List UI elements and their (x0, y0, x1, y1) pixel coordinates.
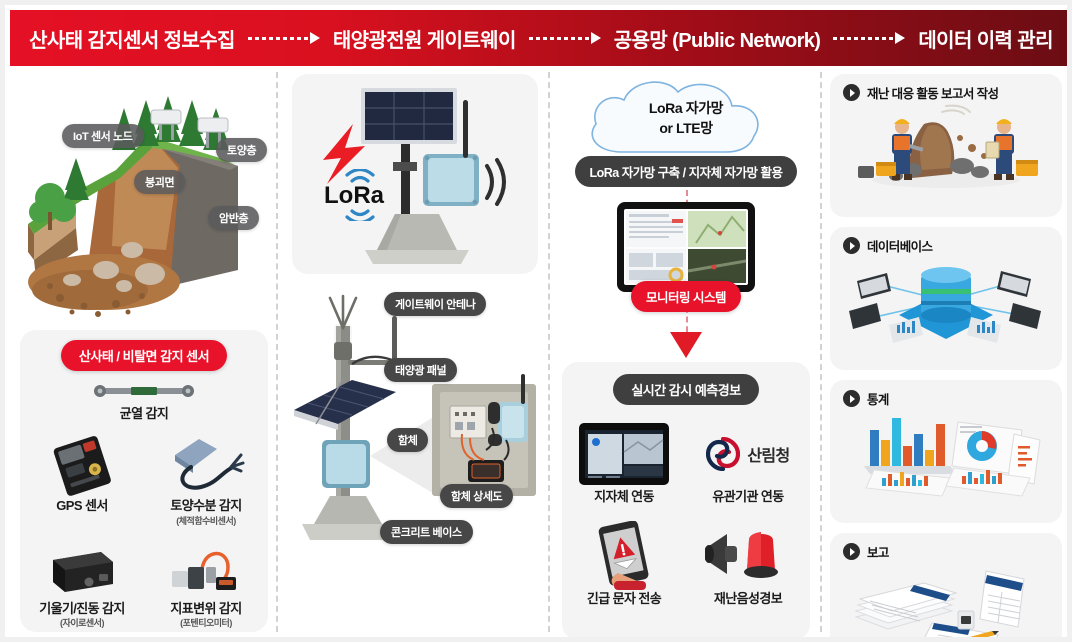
header-step-3: 공용망 (Public Network) (614, 24, 821, 53)
cloud-icon: LoRa 자가망 or LTE망 (562, 74, 810, 160)
alert-label-local-gov: 지자체 연동 (562, 489, 686, 505)
column-data-history: 재난 대응 활동 보고서 작성 (822, 66, 1072, 642)
sensor-panel-badge: 산사태 / 비탈면 감지 센서 (61, 340, 227, 371)
card-title: 재난 대응 활동 보고서 작성 (867, 83, 998, 102)
down-arrow-icon (562, 330, 810, 360)
landslide-slope-illustration: IoT 센서 노드 토양층 붕괴면 암반층 (20, 74, 268, 324)
label-concrete-base: 콘크리트 베이스 (380, 520, 473, 544)
soil-moisture-sensor-icon (144, 432, 268, 498)
dotted-arrow-right-icon (529, 32, 601, 44)
lora-panel: LoRa (292, 74, 538, 274)
card-title: 보고 (867, 542, 889, 561)
alert-panel: 실시간 감시 예측경보 (562, 362, 810, 640)
card-title: 통계 (867, 389, 889, 408)
tablet-dashboard-icon (562, 201, 810, 293)
header-step-2: 태양광전원 게이트웨이 (333, 24, 516, 53)
control-tablet-icon (562, 419, 686, 489)
sensor-label-gps: GPS 센서 (20, 498, 144, 514)
dotted-arrow-right-icon (833, 32, 905, 44)
chevron-right-icon (843, 84, 860, 101)
statistics-charts-icon (830, 408, 1062, 500)
alert-label-agency: 유관기관 연동 (686, 489, 810, 505)
cloud-line-1: LoRa 자가망 (562, 98, 810, 118)
network-badge: LoRa 자가망 구축 / 지자체 자가망 활용 (575, 156, 796, 187)
alert-label-voice: 재난음성경보 (686, 591, 810, 607)
sensor-label-soil-moisture: 토양수분 감지 (체적함수비센서) (144, 498, 268, 527)
sensor-label-displacement: 지표변위 감지 (포텐티오미터) (144, 601, 268, 630)
sensor-label-gyro: 기울기/진동 감지 (자이로센서) (20, 601, 144, 630)
report-documents-icon (830, 561, 1062, 642)
label-soil-layer: 토양층 (216, 138, 267, 162)
card-title: 데이터베이스 (867, 236, 932, 255)
header-step-1: 산사태 감지센서 정보수집 (29, 24, 235, 53)
korea-forest-service-logo: 산림청 (686, 419, 810, 489)
gyro-sensor-icon (20, 539, 144, 601)
card-database[interactable]: 데이터베이스 (830, 227, 1062, 370)
chevron-right-icon (843, 390, 860, 407)
column-solar-gateway: LoRa (278, 66, 550, 642)
label-collapse-face: 붕괴면 (134, 170, 185, 194)
disaster-response-workers-icon (830, 102, 1062, 194)
siren-speaker-icon (686, 521, 810, 591)
infographic-page: 산사태 감지센서 정보수집 태양광전원 게이트웨이 공용망 (Public Ne… (0, 0, 1072, 642)
label-bedrock-layer: 암반층 (208, 206, 259, 230)
alert-panel-badge: 실시간 감시 예측경보 (613, 374, 758, 405)
alert-label-sms: 긴급 문자 전송 (562, 591, 686, 607)
process-header: 산사태 감지센서 정보수집 태양광전원 게이트웨이 공용망 (Public Ne… (10, 10, 1072, 66)
cloud-line-2: or LTE망 (562, 118, 810, 138)
label-solar-panel: 태양광 패널 (384, 358, 457, 382)
label-gateway-antenna: 게이트웨이 안테나 (384, 292, 486, 316)
header-step-4: 데이터 이력 관리 (918, 24, 1053, 53)
card-report[interactable]: 보고 (830, 533, 1062, 642)
chevron-right-icon (843, 237, 860, 254)
potentiometer-icon (144, 539, 268, 601)
dotted-arrow-right-icon (248, 32, 320, 44)
slope-graphic (20, 74, 268, 320)
column-sensor-collection: IoT 센서 노드 토양층 붕괴면 암반층 산사태 / 비탈면 감지 센서 (10, 66, 278, 642)
crack-meter-icon (20, 383, 268, 399)
card-statistics[interactable]: 통계 (830, 380, 1062, 523)
emergency-sms-icon (562, 521, 686, 591)
monitoring-badge: 모니터링 시스템 (631, 281, 741, 312)
svg-text:LoRa: LoRa (324, 182, 385, 209)
label-iot-sensor-node: IoT 센서 노드 (62, 124, 144, 148)
sensor-label-crack: 균열 감지 (20, 406, 268, 422)
card-disaster-report[interactable]: 재난 대응 활동 보고서 작성 (830, 74, 1062, 217)
network-flow: LoRa 자가망 or LTE망 LoRa 자가망 구축 / 지자체 자가망 활… (562, 74, 810, 356)
label-enclosure-detail: 함체 상세도 (440, 484, 513, 508)
chevron-right-icon (843, 543, 860, 560)
lora-logo: LoRa (322, 169, 414, 226)
sensor-panel: 산사태 / 비탈면 감지 센서 균열 감지 (20, 330, 268, 632)
column-public-network: LoRa 자가망 or LTE망 LoRa 자가망 구축 / 지자체 자가망 활… (550, 66, 822, 642)
columns-container: IoT 센서 노드 토양층 붕괴면 암반층 산사태 / 비탈면 감지 센서 (10, 66, 1072, 642)
forest-service-name: 산림청 (747, 442, 789, 466)
database-network-icon (830, 255, 1062, 347)
gateway-tower-panel: 게이트웨이 안테나 태양광 패널 함체 함체 상세도 콘크리트 베이스 (292, 288, 538, 588)
label-enclosure: 함체 (387, 428, 428, 452)
gps-board-icon (20, 432, 144, 498)
